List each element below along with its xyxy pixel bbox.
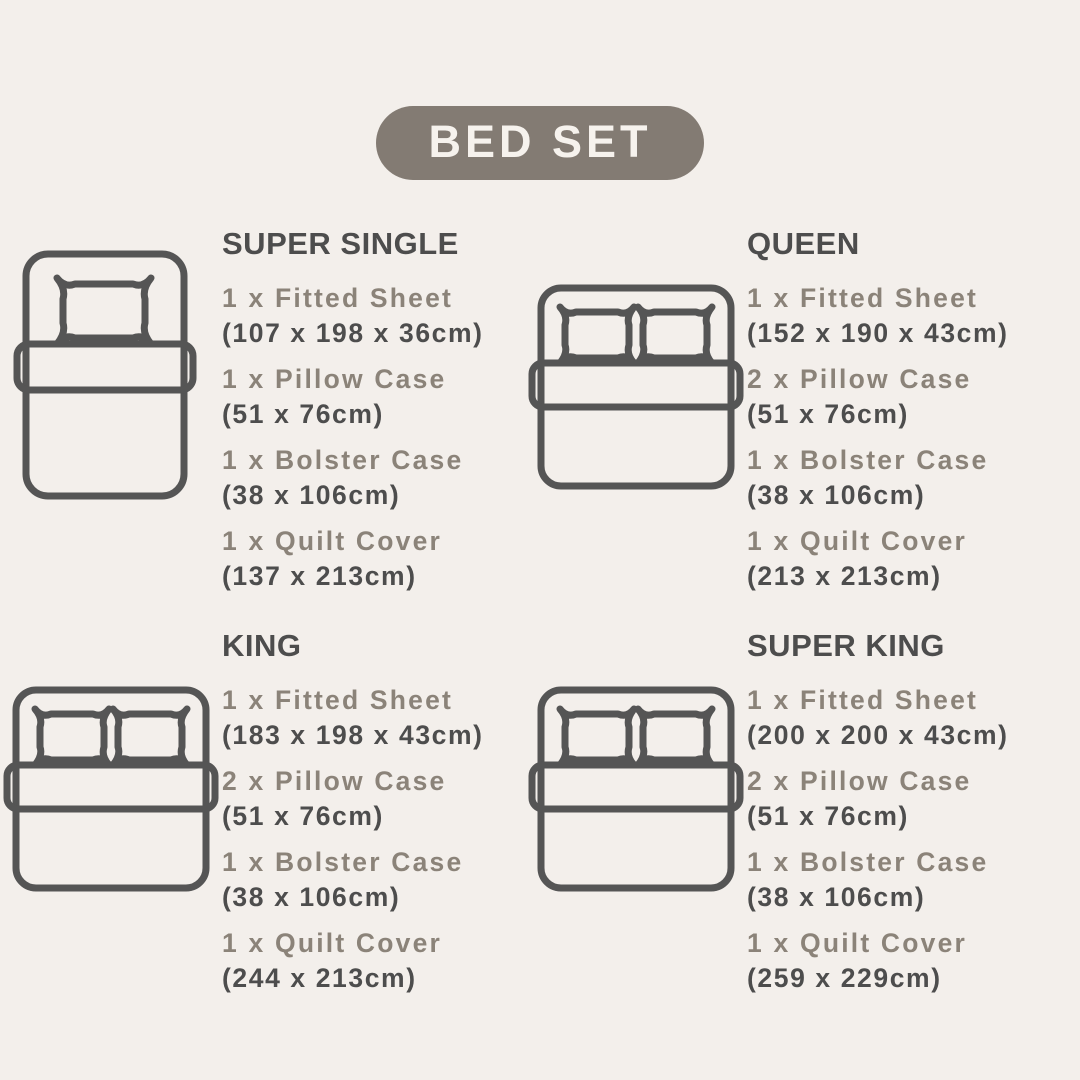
bed-illustration-super-single [0,228,222,506]
item-dimensions: (244 x 213cm) [222,961,484,996]
size-card-super-king: SUPER KING 1 x Fitted Sheet (200 x 200 x… [525,630,1009,1007]
item-name: 1 x Fitted Sheet [222,683,484,718]
bed-illustration-king [0,630,222,896]
item-name: 1 x Bolster Case [747,845,1009,880]
size-details-king: KING 1 x Fitted Sheet (183 x 198 x 43cm)… [222,630,484,1007]
list-item: 1 x Quilt Cover (213 x 213cm) [747,524,1009,594]
size-details-super-single: SUPER SINGLE 1 x Fitted Sheet (107 x 198… [222,228,484,605]
item-name: 1 x Bolster Case [222,845,484,880]
size-title: QUEEN [747,228,1009,259]
list-item: 1 x Bolster Case (38 x 106cm) [747,845,1009,915]
item-dimensions: (137 x 213cm) [222,559,484,594]
bed-illustration-super-king [525,630,747,896]
item-name: 2 x Pillow Case [747,764,1009,799]
item-name: 1 x Quilt Cover [222,524,484,559]
list-item: 1 x Quilt Cover (259 x 229cm) [747,926,1009,996]
item-dimensions: (51 x 76cm) [747,397,1009,432]
double-bed-icon [528,280,744,494]
item-dimensions: (213 x 213cm) [747,559,1009,594]
item-dimensions: (107 x 198 x 36cm) [222,316,484,351]
item-dimensions: (38 x 106cm) [747,880,1009,915]
item-dimensions: (38 x 106cm) [222,478,484,513]
list-item: 2 x Pillow Case (51 x 76cm) [747,764,1009,834]
item-name: 1 x Pillow Case [222,362,484,397]
item-name: 1 x Fitted Sheet [222,281,484,316]
list-item: 1 x Bolster Case (38 x 106cm) [222,845,484,915]
size-title: SUPER SINGLE [222,228,484,259]
item-dimensions: (152 x 190 x 43cm) [747,316,1009,351]
item-dimensions: (38 x 106cm) [747,478,1009,513]
item-dimensions: (259 x 229cm) [747,961,1009,996]
item-name: 1 x Quilt Cover [747,926,1009,961]
item-dimensions: (51 x 76cm) [747,799,1009,834]
item-dimensions: (183 x 198 x 43cm) [222,718,484,753]
item-name: 1 x Fitted Sheet [747,683,1009,718]
bed-size-grid: SUPER SINGLE 1 x Fitted Sheet (107 x 198… [0,0,1080,1080]
double-bed-icon [528,682,744,896]
list-item: 1 x Quilt Cover (244 x 213cm) [222,926,484,996]
item-dimensions: (200 x 200 x 43cm) [747,718,1009,753]
size-title: SUPER KING [747,630,1009,661]
list-item: 1 x Pillow Case (51 x 76cm) [222,362,484,432]
list-item: 1 x Fitted Sheet (152 x 190 x 43cm) [747,281,1009,351]
list-item: 1 x Bolster Case (38 x 106cm) [222,443,484,513]
size-card-queen: QUEEN 1 x Fitted Sheet (152 x 190 x 43cm… [525,228,1009,605]
item-dimensions: (51 x 76cm) [222,397,484,432]
list-item: 2 x Pillow Case (51 x 76cm) [222,764,484,834]
list-item: 2 x Pillow Case (51 x 76cm) [747,362,1009,432]
item-name: 1 x Quilt Cover [747,524,1009,559]
single-bed-icon [13,244,209,506]
list-item: 1 x Fitted Sheet (183 x 198 x 43cm) [222,683,484,753]
item-dimensions: (38 x 106cm) [222,880,484,915]
item-dimensions: (51 x 76cm) [222,799,484,834]
bed-illustration-queen [525,228,747,494]
size-title: KING [222,630,484,661]
size-card-king: KING 1 x Fitted Sheet (183 x 198 x 43cm)… [0,630,484,1007]
item-name: 1 x Bolster Case [222,443,484,478]
size-card-super-single: SUPER SINGLE 1 x Fitted Sheet (107 x 198… [0,228,484,605]
item-name: 1 x Fitted Sheet [747,281,1009,316]
double-bed-icon [3,682,219,896]
size-details-super-king: SUPER KING 1 x Fitted Sheet (200 x 200 x… [747,630,1009,1007]
item-name: 1 x Quilt Cover [222,926,484,961]
list-item: 1 x Fitted Sheet (107 x 198 x 36cm) [222,281,484,351]
item-name: 1 x Bolster Case [747,443,1009,478]
list-item: 1 x Quilt Cover (137 x 213cm) [222,524,484,594]
size-details-queen: QUEEN 1 x Fitted Sheet (152 x 190 x 43cm… [747,228,1009,605]
list-item: 1 x Fitted Sheet (200 x 200 x 43cm) [747,683,1009,753]
item-name: 2 x Pillow Case [747,362,1009,397]
list-item: 1 x Bolster Case (38 x 106cm) [747,443,1009,513]
item-name: 2 x Pillow Case [222,764,484,799]
